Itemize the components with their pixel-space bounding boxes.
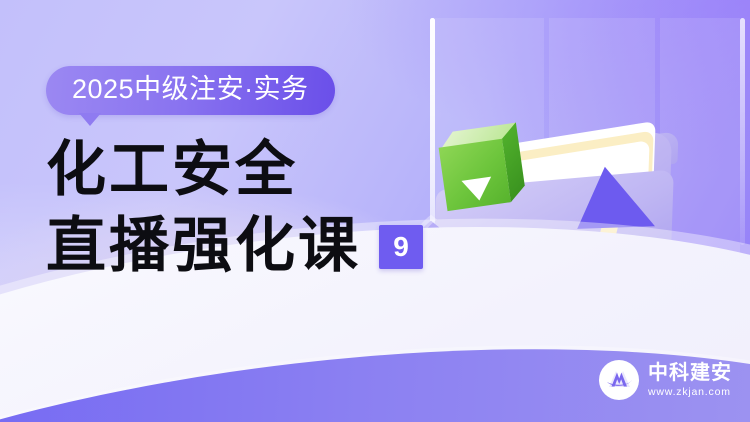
headline-block: 2025中级注安·实务 化工安全 直播强化课 9 [46,66,476,278]
course-tag: 2025中级注安·实务 [46,66,335,115]
page-title-line-1-text: 化工安全 [46,135,298,205]
brand-url: www.zkjan.com [648,387,732,398]
brand-logo-text: 中科建安 www.zkjan.com [648,362,732,398]
zkjan-mountain-icon [599,360,639,400]
course-tag-label: 2025中级注安·实务 [46,66,335,115]
episode-badge: 9 [379,225,423,269]
page-title-line-2: 直播强化课 9 [46,215,476,277]
course-banner: 2025中级注安·实务 化工安全 直播强化课 9 中科建安 www.zkjan.… [0,0,750,422]
page-title-line-2-text: 直播强化课 [46,215,361,277]
page-title-line-1: 化工安全 [46,139,476,201]
course-tag-tail-icon [79,113,101,126]
brand-logo[interactable]: 中科建安 www.zkjan.com [599,360,732,400]
brand-name: 中科建安 [648,362,732,382]
